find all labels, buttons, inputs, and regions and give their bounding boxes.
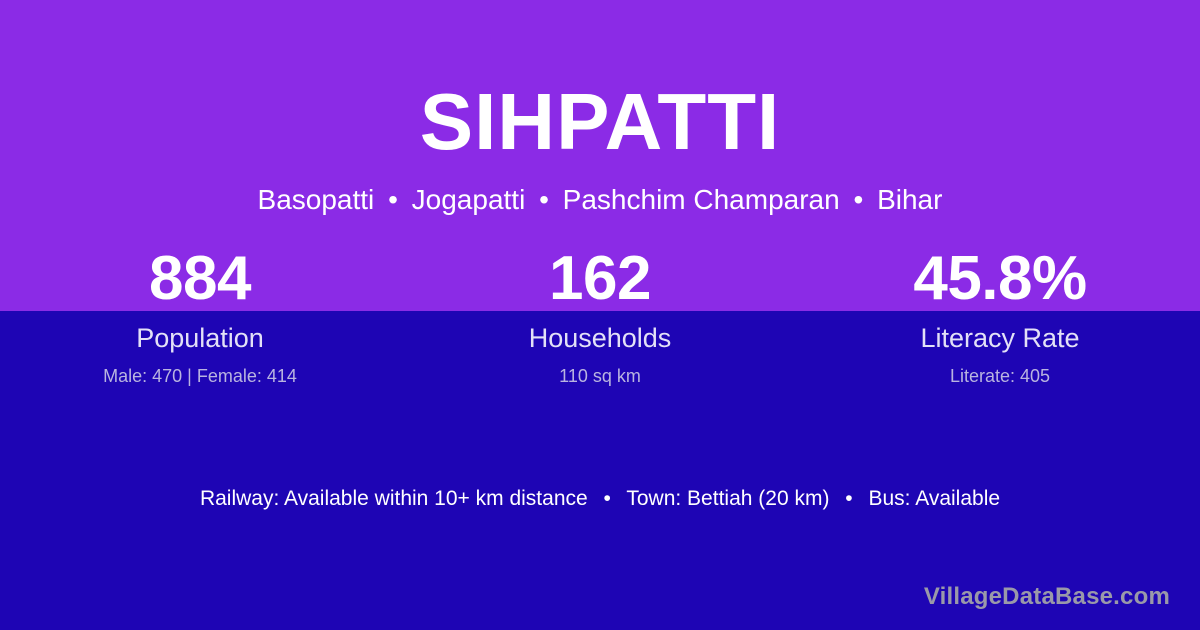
village-info-card: SIHPATTI Basopatti • Jogapatti • Pashchi… (0, 0, 1200, 630)
stat-value: 884 (0, 248, 400, 310)
connectivity-item-railway: Railway: Available within 10+ km distanc… (200, 487, 588, 510)
stat-label: Households (400, 324, 800, 354)
stat-sublabel: 110 sq km (400, 367, 800, 387)
stat-sublabel: Male: 470 | Female: 414 (0, 367, 400, 387)
breadcrumb-separator: • (533, 184, 555, 215)
breadcrumb-item-subdistrict: Jogapatti (412, 184, 526, 215)
stat-label: Literacy Rate (800, 324, 1200, 354)
stat-sublabel: Literate: 405 (800, 367, 1200, 387)
breadcrumb-item-state: Bihar (877, 184, 942, 215)
stat-population: 884 Population Male: 470 | Female: 414 (0, 248, 400, 386)
stats-row: 884 Population Male: 470 | Female: 414 1… (0, 248, 1200, 386)
stat-literacy-rate: 45.8% Literacy Rate Literate: 405 (800, 248, 1200, 386)
connectivity-separator: • (594, 487, 621, 510)
stat-households: 162 Households 110 sq km (400, 248, 800, 386)
breadcrumb: Basopatti • Jogapatti • Pashchim Champar… (0, 182, 1200, 217)
breadcrumb-item-block: Basopatti (258, 184, 375, 215)
connectivity-line: Railway: Available within 10+ km distanc… (0, 485, 1200, 512)
page-title: SIHPATTI (0, 82, 1200, 162)
stat-value: 45.8% (800, 248, 1200, 310)
stat-value: 162 (400, 248, 800, 310)
breadcrumb-separator: • (847, 184, 869, 215)
breadcrumb-item-district: Pashchim Champaran (563, 184, 840, 215)
breadcrumb-separator: • (382, 184, 404, 215)
stat-label: Population (0, 324, 400, 354)
connectivity-item-town: Town: Bettiah (20 km) (626, 487, 829, 510)
connectivity-separator: • (835, 487, 862, 510)
site-brand: VillageDataBase.com (924, 583, 1170, 612)
connectivity-item-bus: Bus: Available (869, 487, 1001, 510)
